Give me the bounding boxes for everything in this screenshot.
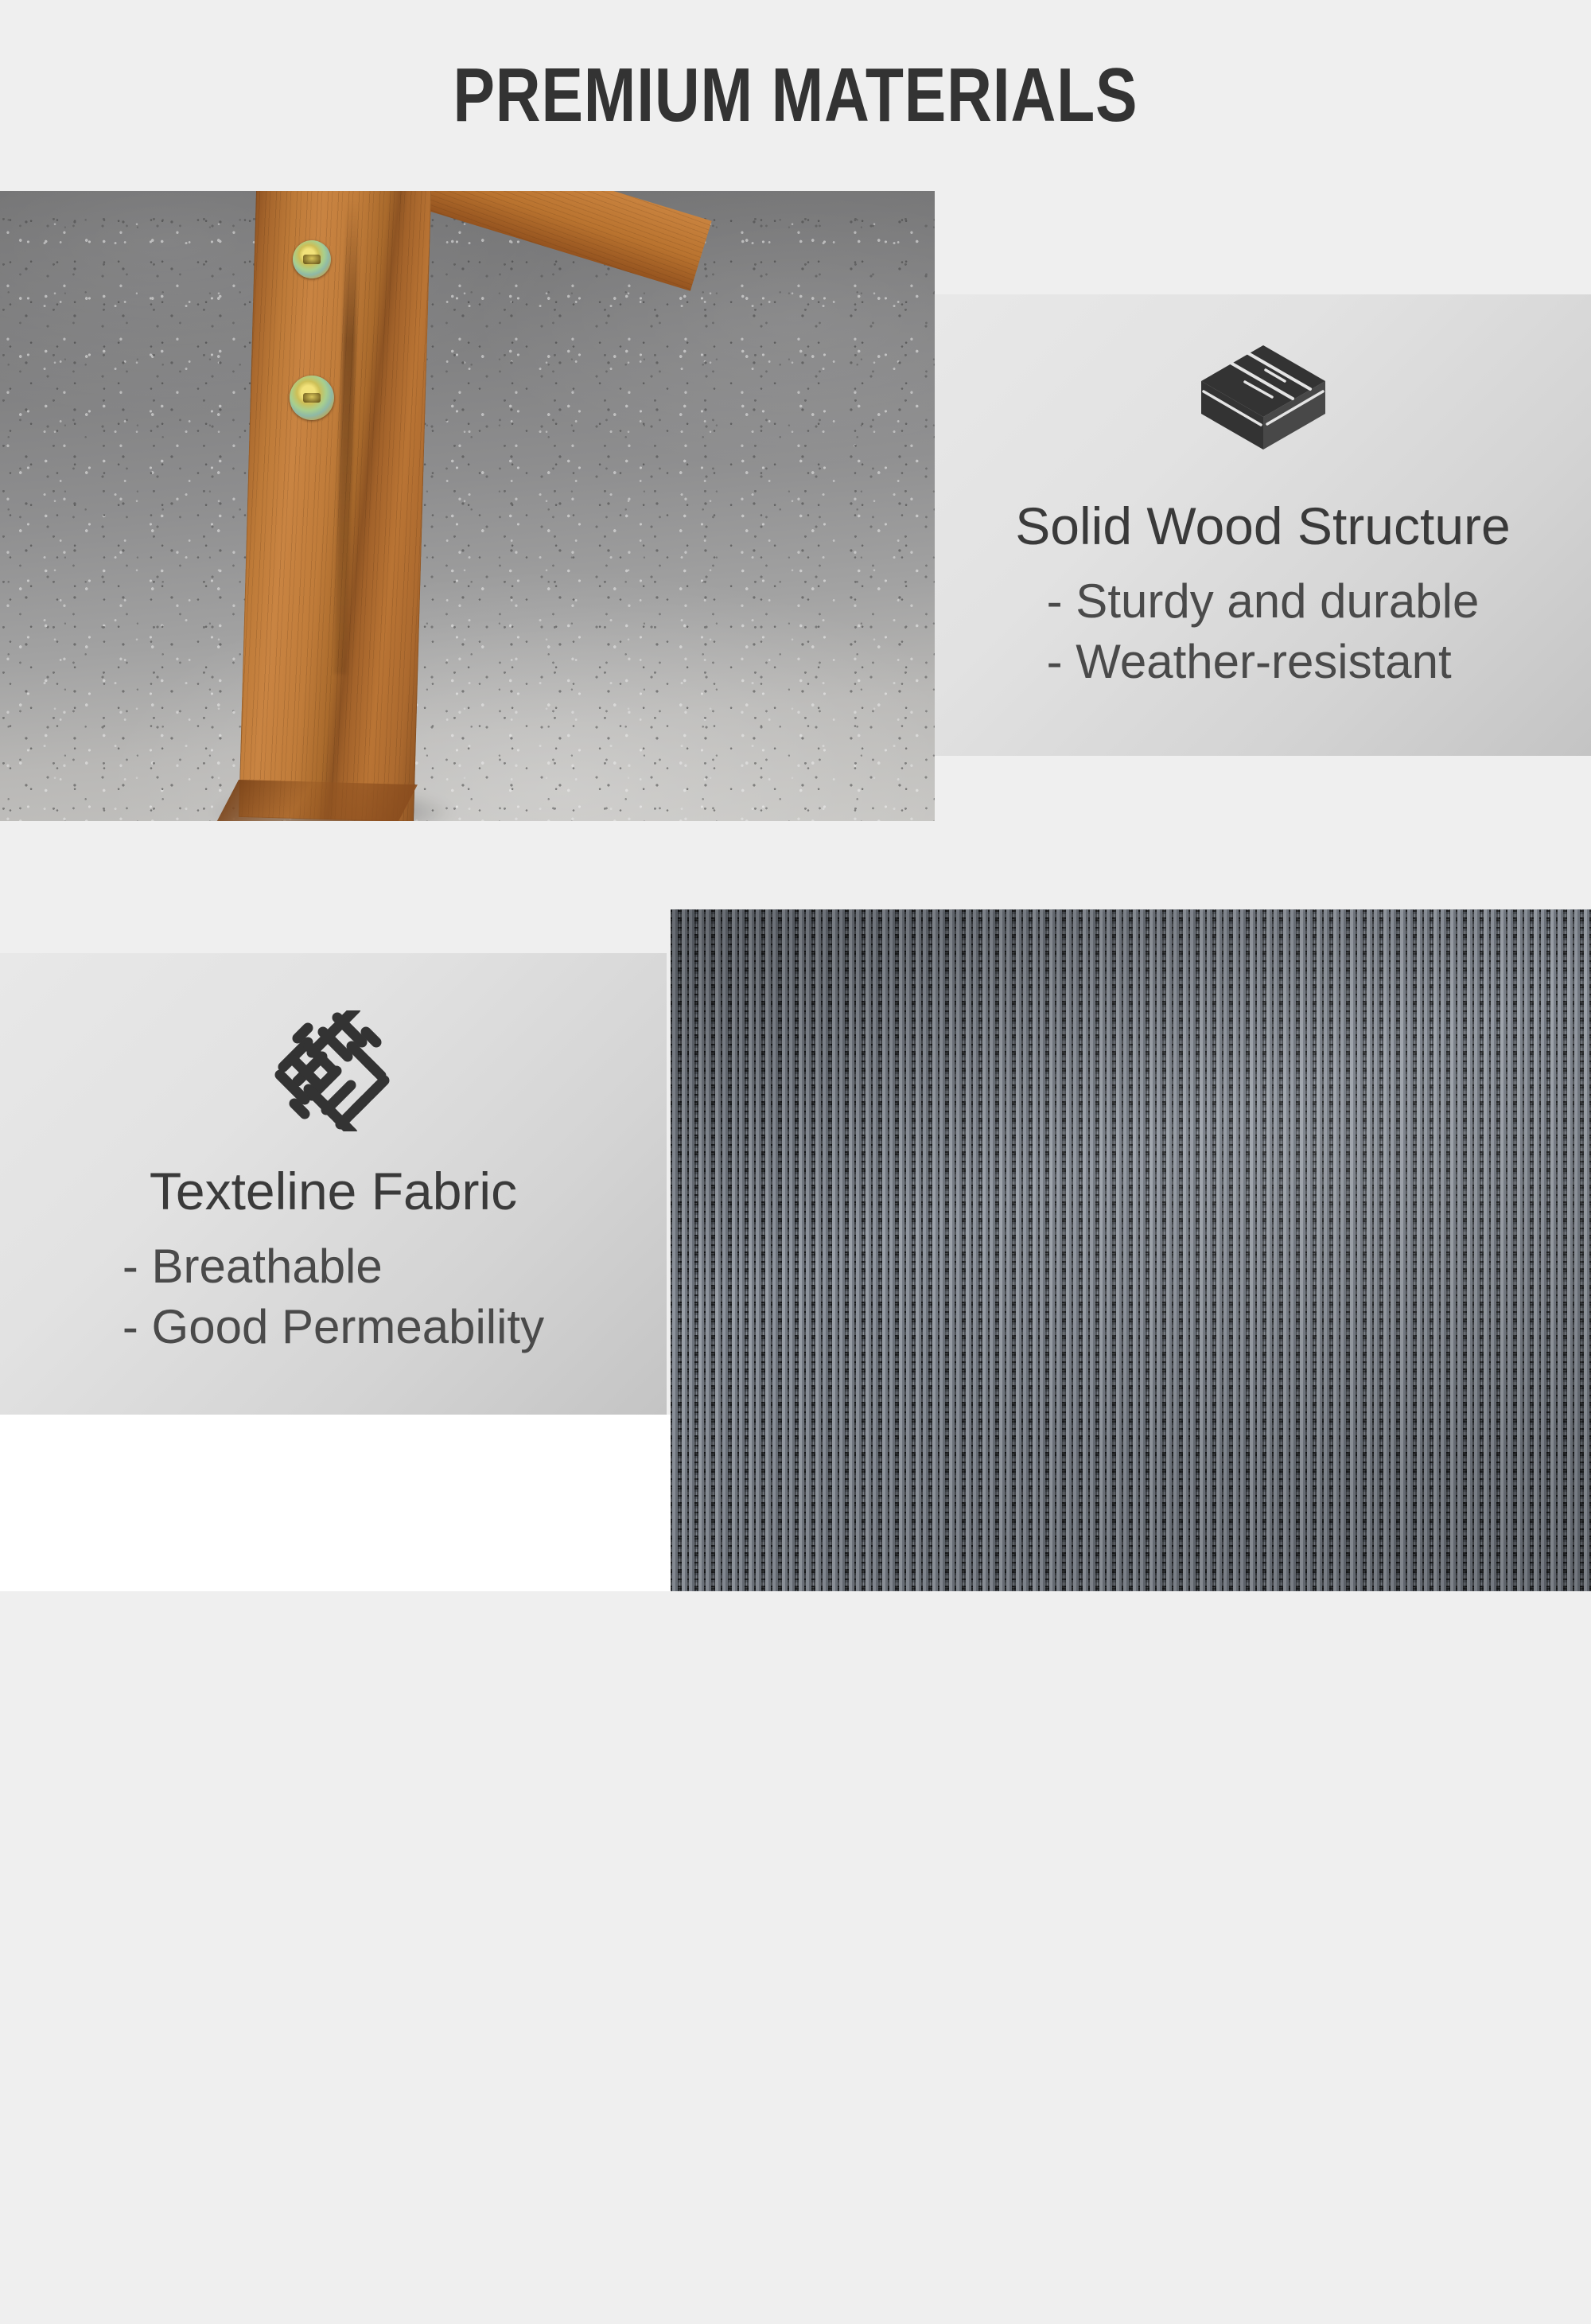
concrete-speckle-texture (0, 191, 935, 821)
feature-panel-texteline-fabric: Texteline Fabric - Breathable - Good Per… (0, 953, 667, 1415)
feature-heading-texteline-fabric: Texteline Fabric (150, 1162, 517, 1220)
page-title: PREMIUM MATERIALS (453, 57, 1138, 134)
wood-leg-foot-face (212, 780, 418, 821)
feature-bullets-solid-wood: - Sturdy and durable - Weather-resistant (1047, 571, 1480, 694)
bullet-item: - Good Permeability (123, 1297, 544, 1358)
feature-panel-solid-wood: Solid Wood Structure - Sturdy and durabl… (935, 294, 1591, 756)
fabric-lighting-overlay (671, 909, 1591, 1591)
bullet-item: - Weather-resistant (1047, 632, 1480, 693)
bullet-item: - Breathable (123, 1236, 544, 1298)
screw-icon-upper (293, 240, 331, 278)
woven-fabric-icon (273, 1010, 394, 1135)
feature-heading-solid-wood: Solid Wood Structure (1015, 497, 1510, 555)
screw-icon-lower (290, 376, 334, 420)
wood-block-icon (1196, 341, 1331, 464)
feature-bullets-texteline-fabric: - Breathable - Good Permeability (123, 1236, 544, 1359)
wood-leg-post (239, 191, 432, 821)
texteline-fabric-photo (671, 909, 1591, 1591)
wood-leg-photo (0, 191, 935, 821)
header-banner: PREMIUM MATERIALS (0, 0, 1591, 191)
bullet-item: - Sturdy and durable (1047, 571, 1480, 633)
